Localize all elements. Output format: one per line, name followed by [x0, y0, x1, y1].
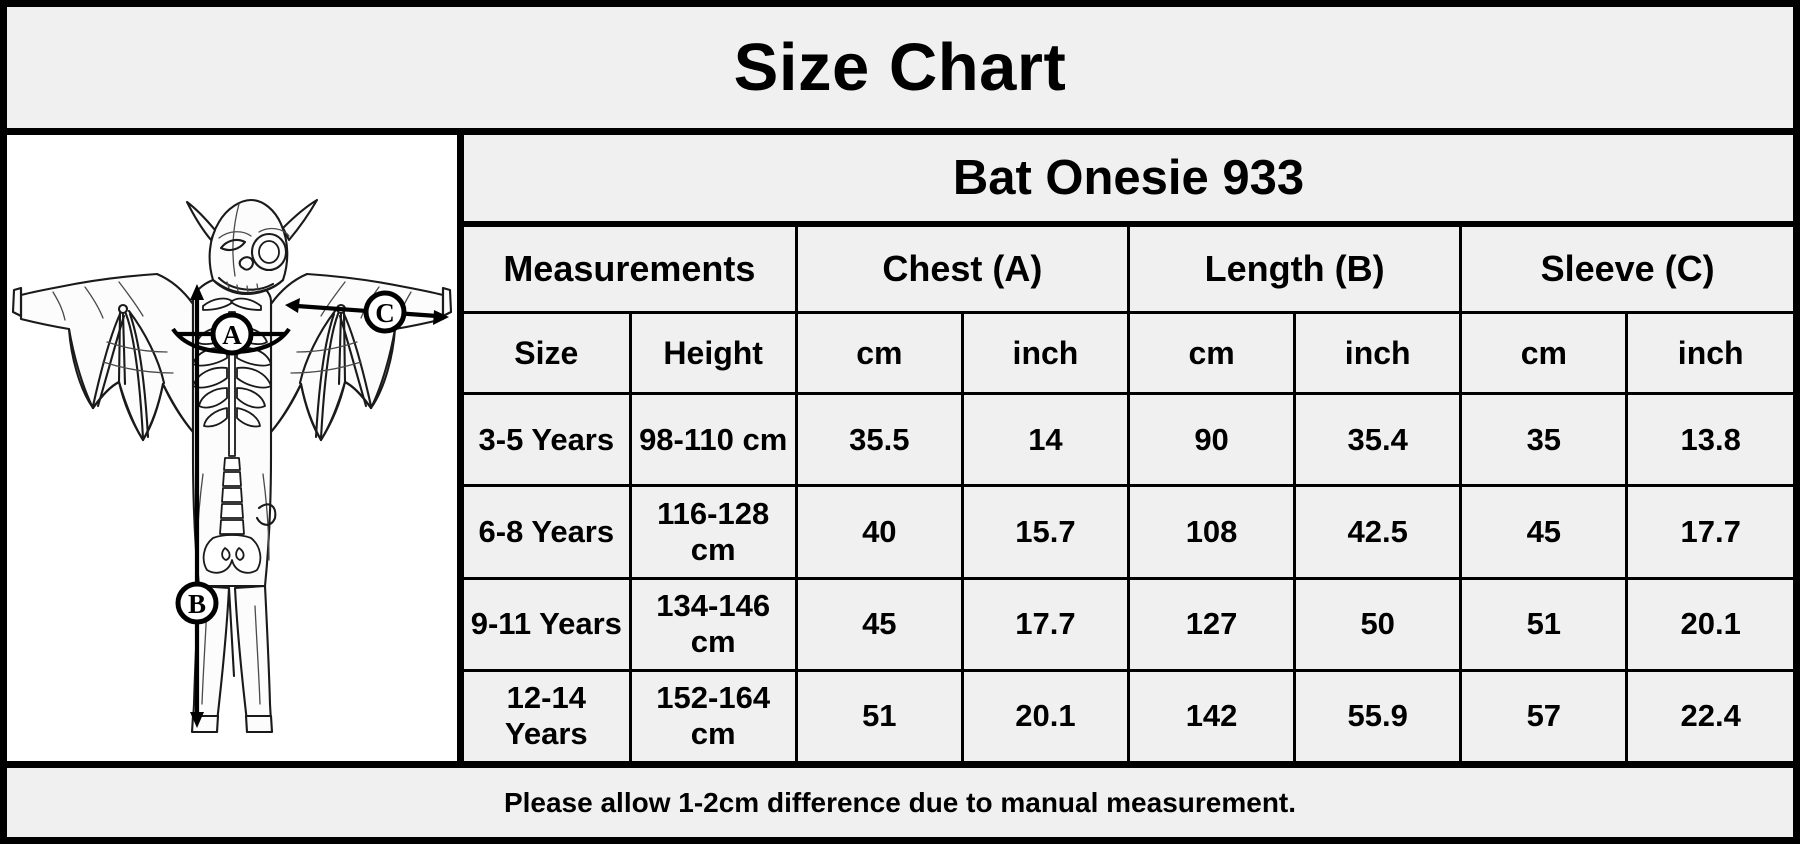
size-table: Measurements Chest (A) Length (B) Sleeve…: [464, 227, 1793, 761]
cell-height: 98-110 cm: [630, 394, 796, 486]
sub-header-size: Size: [464, 313, 630, 394]
cell-chest-inch: 20.1: [962, 670, 1128, 761]
cell-length-cm: 108: [1129, 486, 1295, 578]
sub-header-chest-cm: cm: [796, 313, 962, 394]
cell-sleeve-cm: 57: [1461, 670, 1627, 761]
cell-size: 6-8 Years: [464, 486, 630, 578]
svg-text:B: B: [188, 589, 206, 619]
sub-header-sleeve-inch: inch: [1627, 313, 1793, 394]
cell-sleeve-inch: 13.8: [1627, 394, 1793, 486]
svg-text:C: C: [375, 298, 395, 328]
sub-header-chest-inch: inch: [962, 313, 1128, 394]
measurement-disclaimer: Please allow 1-2cm difference due to man…: [504, 789, 1296, 817]
chart-title-bar: Size Chart: [7, 7, 1793, 135]
table-row: 12-14 Years 152-164 cm 51 20.1 142 55.9 …: [464, 670, 1793, 761]
cell-chest-cm: 45: [796, 578, 962, 670]
product-name-row: Bat Onesie 933: [464, 135, 1793, 227]
cell-length-cm: 90: [1129, 394, 1295, 486]
sub-header-length-inch: inch: [1295, 313, 1461, 394]
cell-length-inch: 50: [1295, 578, 1461, 670]
cell-chest-inch: 14: [962, 394, 1128, 486]
cell-size: 3-5 Years: [464, 394, 630, 486]
group-header-sleeve: Sleeve (C): [1461, 227, 1793, 313]
size-table-body: 3-5 Years 98-110 cm 35.5 14 90 35.4 35 1…: [464, 394, 1793, 762]
svg-text:A: A: [222, 320, 242, 350]
cell-chest-cm: 40: [796, 486, 962, 578]
page-title: Size Chart: [734, 34, 1067, 101]
cell-size: 9-11 Years: [464, 578, 630, 670]
cell-sleeve-cm: 35: [1461, 394, 1627, 486]
cell-chest-inch: 15.7: [962, 486, 1128, 578]
table-row: 6-8 Years 116-128 cm 40 15.7 108 42.5 45…: [464, 486, 1793, 578]
product-name: Bat Onesie 933: [953, 154, 1304, 203]
group-header-chest: Chest (A): [796, 227, 1128, 313]
cell-sleeve-cm: 51: [1461, 578, 1627, 670]
chart-body: A B C Bat Onesie 933 Measur: [7, 135, 1793, 761]
cell-length-inch: 35.4: [1295, 394, 1461, 486]
size-table-head: Measurements Chest (A) Length (B) Sleeve…: [464, 227, 1793, 394]
cell-chest-inch: 17.7: [962, 578, 1128, 670]
table-row: 9-11 Years 134-146 cm 45 17.7 127 50 51 …: [464, 578, 1793, 670]
cell-sleeve-inch: 17.7: [1627, 486, 1793, 578]
marker-c: C: [366, 293, 404, 331]
size-chart-container: Size Chart: [0, 0, 1800, 844]
size-table-pane: Bat Onesie 933 Measurements Chest (A) Le…: [464, 135, 1793, 761]
cell-height: 152-164 cm: [630, 670, 796, 761]
marker-b: B: [178, 584, 216, 622]
cell-length-inch: 42.5: [1295, 486, 1461, 578]
group-header-measurements: Measurements: [464, 227, 796, 313]
cell-height: 134-146 cm: [630, 578, 796, 670]
sub-header-row: Size Height cm inch cm inch cm inch: [464, 313, 1793, 394]
marker-a: A: [213, 315, 251, 353]
group-header-row: Measurements Chest (A) Length (B) Sleeve…: [464, 227, 1793, 313]
sub-header-height: Height: [630, 313, 796, 394]
cell-sleeve-inch: 20.1: [1627, 578, 1793, 670]
product-illustration-pane: A B C: [7, 135, 464, 761]
group-header-length: Length (B): [1129, 227, 1461, 313]
cell-chest-cm: 51: [796, 670, 962, 761]
cell-size: 12-14 Years: [464, 670, 630, 761]
footer-note-bar: Please allow 1-2cm difference due to man…: [7, 761, 1793, 837]
table-row: 3-5 Years 98-110 cm 35.5 14 90 35.4 35 1…: [464, 394, 1793, 486]
sub-header-sleeve-cm: cm: [1461, 313, 1627, 394]
sub-header-length-cm: cm: [1129, 313, 1295, 394]
cell-length-cm: 127: [1129, 578, 1295, 670]
cell-length-inch: 55.9: [1295, 670, 1461, 761]
bat-onesie-illustration: A B C: [7, 156, 457, 741]
cell-sleeve-inch: 22.4: [1627, 670, 1793, 761]
cell-sleeve-cm: 45: [1461, 486, 1627, 578]
cell-chest-cm: 35.5: [796, 394, 962, 486]
cell-length-cm: 142: [1129, 670, 1295, 761]
cell-height: 116-128 cm: [630, 486, 796, 578]
